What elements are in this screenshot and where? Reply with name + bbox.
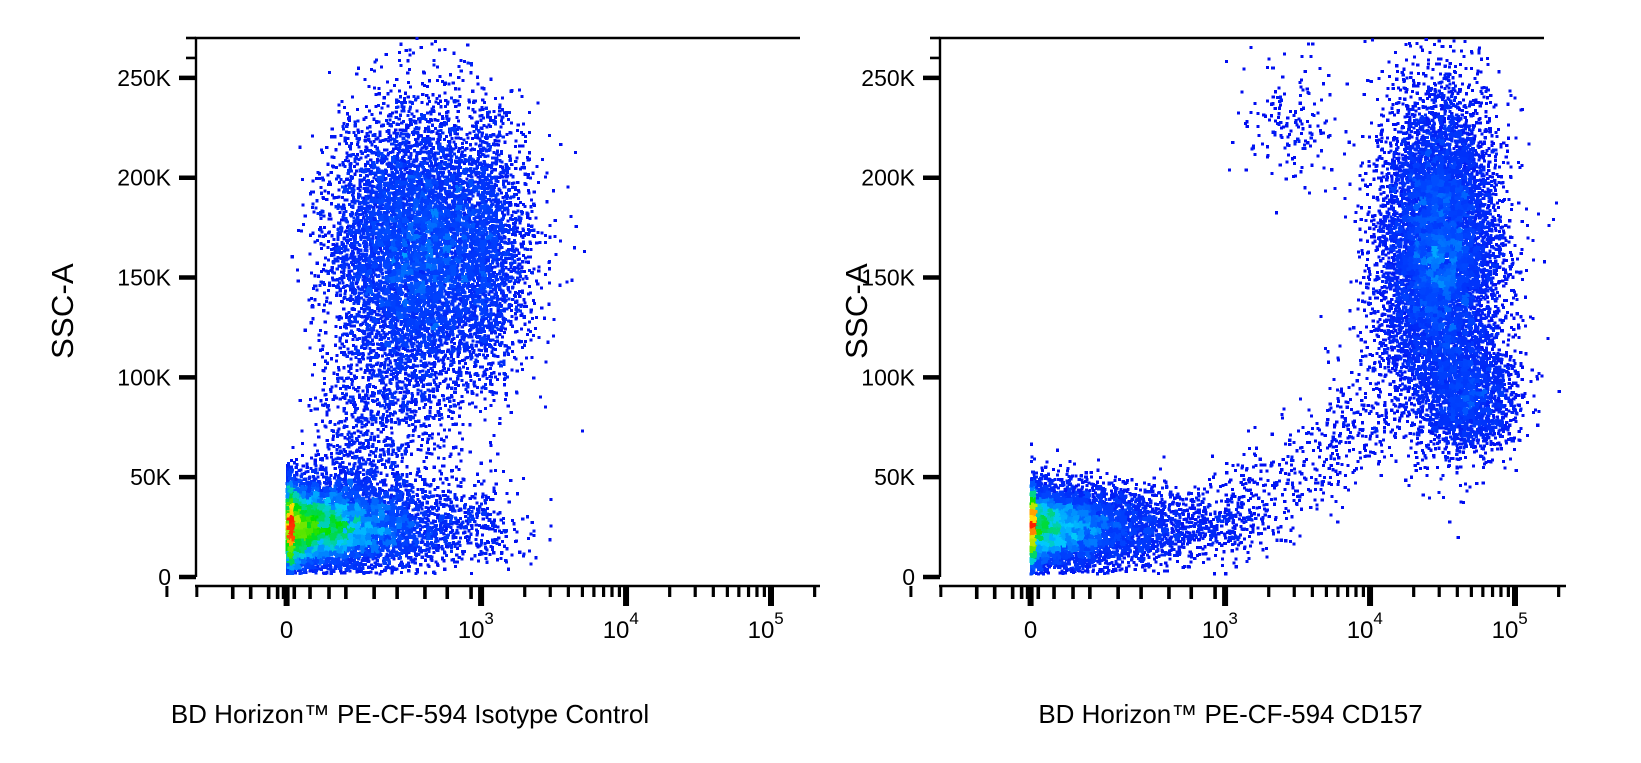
y-tick-label: 0 xyxy=(902,564,915,590)
x-tick-exponent: 3 xyxy=(484,609,493,628)
y-tick-label: 50K xyxy=(130,464,172,490)
y-tick-label: 200K xyxy=(117,165,171,191)
x-tick-label: 0 xyxy=(280,617,293,644)
event-cloud xyxy=(1029,38,1561,575)
x-tick-exponent: 3 xyxy=(1228,609,1237,628)
x-tick-exponent: 4 xyxy=(629,609,638,628)
x-tick-label: 10 xyxy=(1347,617,1374,644)
y-tick-label: 150K xyxy=(117,265,171,291)
panel-caption: BD Horizon™ PE-CF-594 CD157 xyxy=(820,699,1641,730)
x-tick-label: 10 xyxy=(1492,617,1519,644)
y-tick-label: 200K xyxy=(861,165,915,191)
y-tick-label: 250K xyxy=(861,65,915,91)
y-tick-label: 0 xyxy=(158,564,171,590)
plot-area-isotype[interactable]: 050K100K150K200K250K0103104105 xyxy=(0,0,820,690)
x-tick-exponent: 5 xyxy=(1518,609,1527,628)
y-tick-label: 100K xyxy=(861,364,915,390)
x-tick-label: 0 xyxy=(1024,617,1037,644)
flow-cytometry-figure: SSC-A BD Horizon™ PE-CF-594 Isotype Cont… xyxy=(0,0,1641,763)
y-tick-label: 50K xyxy=(874,464,916,490)
y-tick-label: 150K xyxy=(861,265,915,291)
x-tick-label: 10 xyxy=(1202,617,1229,644)
x-tick-label: 10 xyxy=(458,617,485,644)
x-tick-label: 10 xyxy=(748,617,775,644)
plot-area-cd157[interactable]: 050K100K150K200K250K0103104105 xyxy=(820,0,1641,690)
event-cloud xyxy=(285,37,586,575)
panel-isotype-control: SSC-A BD Horizon™ PE-CF-594 Isotype Cont… xyxy=(0,0,820,763)
panel-caption: BD Horizon™ PE-CF-594 Isotype Control xyxy=(0,699,820,730)
panel-cd157: SSC-A BD Horizon™ PE-CF-594 CD157 050K10… xyxy=(820,0,1641,763)
x-tick-label: 10 xyxy=(603,617,630,644)
x-tick-exponent: 5 xyxy=(774,609,783,628)
y-tick-label: 250K xyxy=(117,65,171,91)
y-tick-label: 100K xyxy=(117,364,171,390)
x-tick-exponent: 4 xyxy=(1373,609,1382,628)
